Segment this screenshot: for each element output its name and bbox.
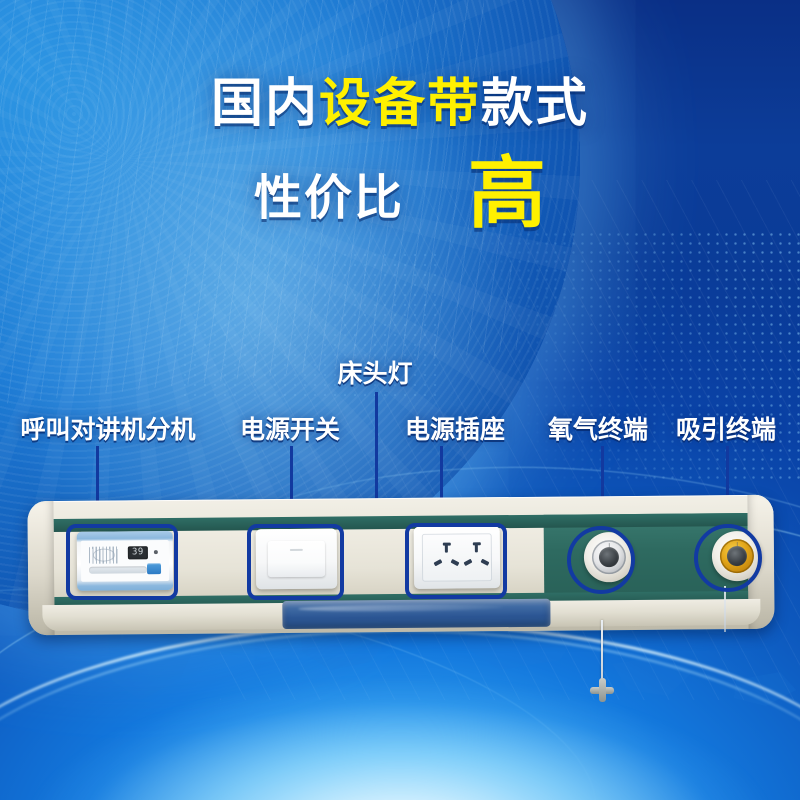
grip-bar-vertical [599, 678, 606, 702]
callout-label-switch: 电源开关 [240, 410, 340, 446]
headline-highlight: 设备带 [319, 75, 481, 133]
headline-block: 国内设备带款式 性价比 高 [0, 78, 800, 230]
callout-label-bed-light: 床头灯 [337, 354, 412, 390]
highlight-box-intercom [66, 524, 178, 600]
callout-label-socket: 电源插座 [405, 410, 505, 446]
callout-label-oxygen: 氧气终端 [548, 410, 648, 446]
highlight-box-switch [247, 524, 344, 600]
callout-label-suction: 吸引终端 [676, 410, 776, 446]
highlight-box-socket [405, 523, 507, 599]
headline-line-1: 国内设备带款式 [0, 78, 800, 130]
headline-line-2: 性价比 高 [0, 156, 800, 230]
headline-subtitle: 性价比 [254, 158, 404, 228]
headline-part-1: 国内 [211, 75, 319, 133]
highlight-circle-oxygen [567, 526, 635, 594]
headline-big-word: 高 [468, 156, 546, 230]
suction-hose-cord [724, 586, 726, 632]
headline-part-2: 款式 [481, 75, 589, 133]
cord-pull-grip[interactable] [590, 678, 614, 702]
highlight-circle-suction [694, 524, 762, 592]
bed-head-light-lens[interactable] [282, 599, 550, 629]
callout-label-intercom: 呼叫对讲机分机 [20, 410, 195, 446]
poster-canvas: 国内设备带款式 性价比 高 呼叫对讲机分机 电源开关 床头灯 电源插座 氧气终端… [0, 0, 800, 800]
